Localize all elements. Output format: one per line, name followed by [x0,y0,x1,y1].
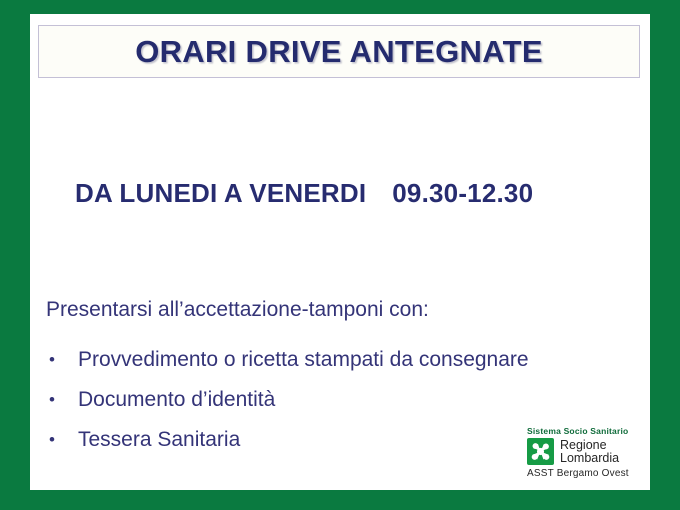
bullet-icon: • [49,340,55,380]
page-title: ORARI DRIVE ANTEGNATE [135,34,543,70]
rosa-camuna-icon [527,438,554,465]
logo-asst-label: ASST Bergamo Ovest [527,468,647,479]
logo-mark-row: Regione Lombardia [527,438,647,465]
logo-system-label: Sistema Socio Sanitario [527,426,647,436]
logo-wordmark: Regione Lombardia [560,439,619,465]
list-item: • Documento d’identità [46,380,529,420]
bullet-icon: • [49,420,55,460]
list-item-label: Tessera Sanitaria [78,428,240,451]
bullet-icon: • [49,380,55,420]
logo-wordmark-line1: Regione [560,439,619,452]
requirements-intro: Presentarsi all’accettazione-tamponi con… [46,298,429,322]
list-item-label: Documento d’identità [78,388,275,411]
list-item: • Provvedimento o ricetta stampati da co… [46,340,529,380]
slide-content-area: ORARI DRIVE ANTEGNATE DA LUNEDI A VENERD… [30,14,650,490]
slide: ORARI DRIVE ANTEGNATE DA LUNEDI A VENERD… [0,0,680,510]
logo-wordmark-line2: Lombardia [560,452,619,465]
schedule-days: DA LUNEDI A VENERDI [75,178,366,208]
schedule-line: DA LUNEDI A VENERDI09.30-12.30 [75,178,533,209]
schedule-hours: 09.30-12.30 [392,178,533,208]
regione-lombardia-logo: Sistema Socio Sanitario [527,426,647,479]
requirements-list: • Provvedimento o ricetta stampati da co… [46,340,529,460]
title-box: ORARI DRIVE ANTEGNATE [38,25,640,78]
list-item-label: Provvedimento o ricetta stampati da cons… [78,348,529,371]
list-item: • Tessera Sanitaria [46,420,529,460]
